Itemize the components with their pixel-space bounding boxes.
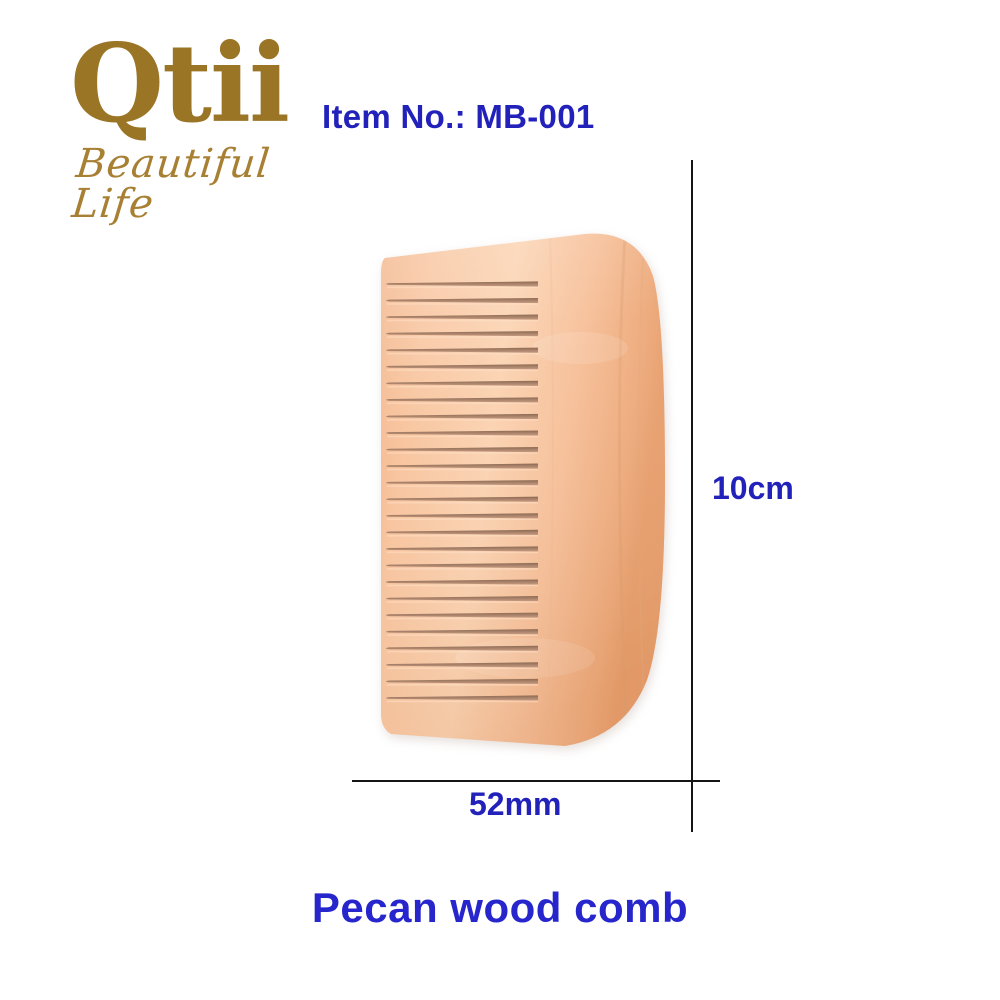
comb-tooth-highlight [387,287,538,289]
comb-tooth-highlight [387,701,538,703]
product-image-canvas: Qtii Beautiful Life Item No.: MB-001 [0,0,1000,1000]
comb-tooth-highlight [387,303,538,305]
comb-tooth-highlight [387,552,538,554]
height-dimension-label: 10cm [712,470,794,507]
comb-tooth-highlight [387,369,538,371]
width-dimension-line [352,780,720,782]
width-dimension-label: 52mm [469,786,562,823]
comb-tooth-highlight [387,502,538,504]
comb-tooth-highlight [387,469,538,471]
comb-tooth-highlight [387,419,538,421]
item-number-label: Item No.: MB-001 [322,98,595,136]
product-photo [375,228,667,768]
comb-tooth-highlight [387,601,538,603]
brand-tagline: Beautiful Life [70,144,338,224]
comb-tooth-highlight [387,403,538,405]
comb-tooth-highlight [387,684,538,686]
comb-tooth-highlight [387,618,538,620]
comb-tooth-highlight [387,651,538,653]
height-dimension-line [691,160,693,832]
comb-tooth-highlight [387,667,538,669]
wooden-comb-illustration [375,228,667,768]
comb-tooth-highlight [387,568,538,570]
comb-tooth-highlight [387,353,538,355]
comb-tooth-highlight [387,320,538,322]
comb-tooth-highlight [387,436,538,438]
comb-tooth-highlight [387,634,538,636]
comb-tooth-highlight [387,386,538,388]
comb-tooth-highlight [387,336,538,338]
comb-tooth-highlight [387,485,538,487]
comb-tooth-highlight [387,518,538,520]
product-caption: Pecan wood comb [0,884,1000,932]
brand-logo: Qtii Beautiful Life [70,32,330,224]
brand-wordmark: Qtii [70,32,330,138]
comb-tooth-highlight [387,452,538,454]
comb-tooth-highlight [387,535,538,537]
comb-tooth-highlight [387,585,538,587]
